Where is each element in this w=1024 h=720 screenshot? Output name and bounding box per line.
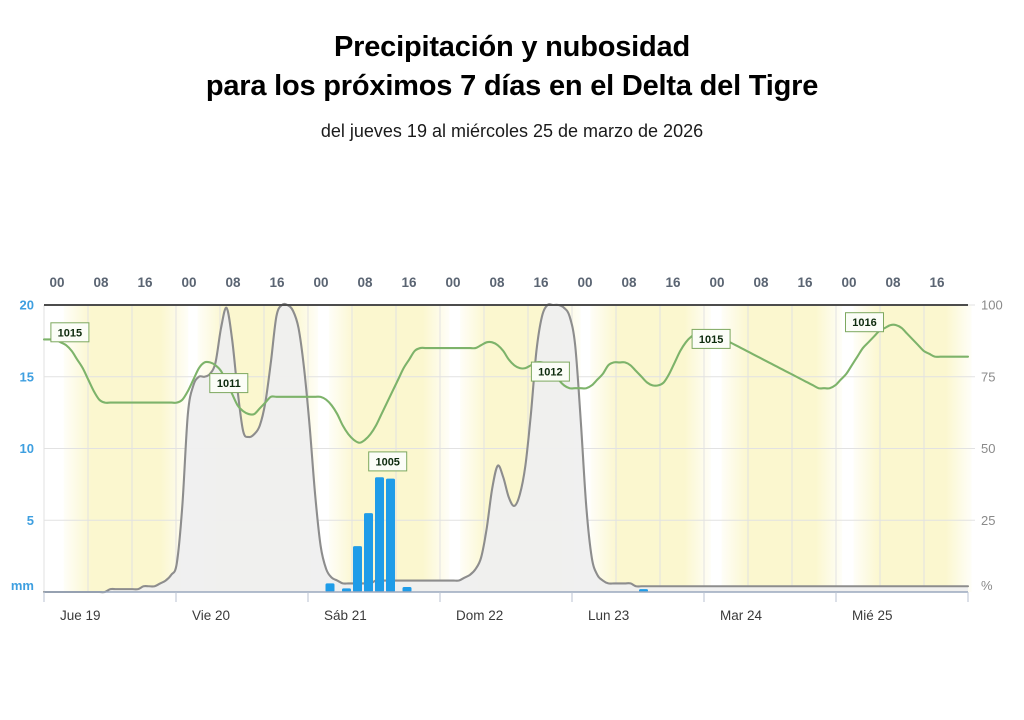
hour-tick-label: 08 (357, 275, 373, 290)
hour-tick-label: 08 (885, 275, 901, 290)
page-title-line-1: Precipitación y nubosidad (0, 28, 1024, 67)
hour-tick-label: 08 (621, 275, 637, 290)
pressure-label: 1015 (692, 329, 730, 348)
pressure-label-value: 1016 (852, 317, 876, 329)
right-axis-tick-label: 50 (981, 441, 995, 456)
left-axis-tick-label: 20 (20, 298, 34, 313)
day-separator-ticks (44, 592, 968, 602)
right-axis-tick-label: 25 (981, 513, 995, 528)
precipitation-bar (353, 546, 362, 592)
hour-tick-label: 00 (841, 275, 856, 290)
hour-tick-label: 08 (753, 275, 769, 290)
hour-tick-label: 00 (577, 275, 592, 290)
day-tick-label: Dom 22 (456, 608, 503, 623)
left-axis-unit-label: mm (11, 578, 34, 593)
hour-tick-label: 16 (665, 275, 681, 290)
left-axis-tick-label: 15 (20, 369, 34, 384)
pressure-label-value: 1005 (375, 456, 399, 468)
right-axis-tick-label: 100 (981, 298, 1003, 313)
left-axis-tick-label: 10 (20, 441, 34, 456)
pressure-label-value: 1015 (699, 334, 723, 346)
right-axis-tick-label: 75 (981, 369, 995, 384)
day-tick-label: Lun 23 (588, 608, 629, 623)
pressure-label: 1016 (846, 313, 884, 332)
hour-tick-label: 08 (225, 275, 241, 290)
hour-tick-label: 00 (709, 275, 724, 290)
hour-tick-label: 16 (401, 275, 417, 290)
pressure-label-value: 1012 (538, 367, 562, 379)
hour-tick-label: 00 (313, 275, 328, 290)
hour-tick-label: 16 (137, 275, 153, 290)
hour-tick-label: 08 (93, 275, 109, 290)
hour-tick-label: 00 (181, 275, 196, 290)
day-tick-labels: Jue 19Vie 20Sáb 21Dom 22Lun 23Mar 24Mié … (60, 608, 893, 623)
hour-tick-label: 16 (929, 275, 945, 290)
page-subtitle: del jueves 19 al miércoles 25 de marzo d… (0, 121, 1024, 142)
precipitation-bar (375, 477, 384, 592)
weather-chart: 101510111005101210151016 000816000816000… (0, 255, 1024, 655)
pressure-label: 1012 (531, 362, 569, 381)
hour-tick-labels: 0008160008160008160008160008160008160008… (49, 275, 945, 290)
hour-tick-label: 08 (489, 275, 505, 290)
day-tick-label: Mar 24 (720, 608, 763, 623)
right-axis-unit-label: % (981, 578, 993, 593)
hour-tick-label: 00 (445, 275, 460, 290)
chart-header: Precipitación y nubosidad para los próxi… (0, 0, 1024, 142)
precipitation-bar (386, 479, 395, 592)
day-tick-label: Jue 19 (60, 608, 101, 623)
hour-tick-label: 16 (797, 275, 813, 290)
precipitation-bar (364, 513, 373, 592)
page-title-line-2: para los próximos 7 días en el Delta del… (0, 67, 1024, 106)
chart-canvas: 101510111005101210151016 000816000816000… (0, 255, 1024, 655)
pressure-label-value: 1015 (58, 327, 82, 339)
hour-tick-label: 16 (533, 275, 549, 290)
day-tick-label: Sáb 21 (324, 608, 367, 623)
pressure-label: 1015 (51, 323, 89, 342)
pressure-label-value: 1011 (217, 378, 241, 390)
day-tick-label: Vie 20 (192, 608, 230, 623)
hour-tick-label: 00 (49, 275, 64, 290)
left-axis-tick-label: 5 (27, 513, 34, 528)
right-axis-tick-labels: 100755025% (968, 298, 1003, 594)
hour-tick-label: 16 (269, 275, 285, 290)
precipitation-bar (326, 583, 335, 592)
day-tick-label: Mié 25 (852, 608, 893, 623)
pressure-label: 1011 (210, 374, 248, 393)
left-axis-tick-labels: 2015105mm (11, 298, 34, 594)
pressure-label: 1005 (369, 452, 407, 471)
